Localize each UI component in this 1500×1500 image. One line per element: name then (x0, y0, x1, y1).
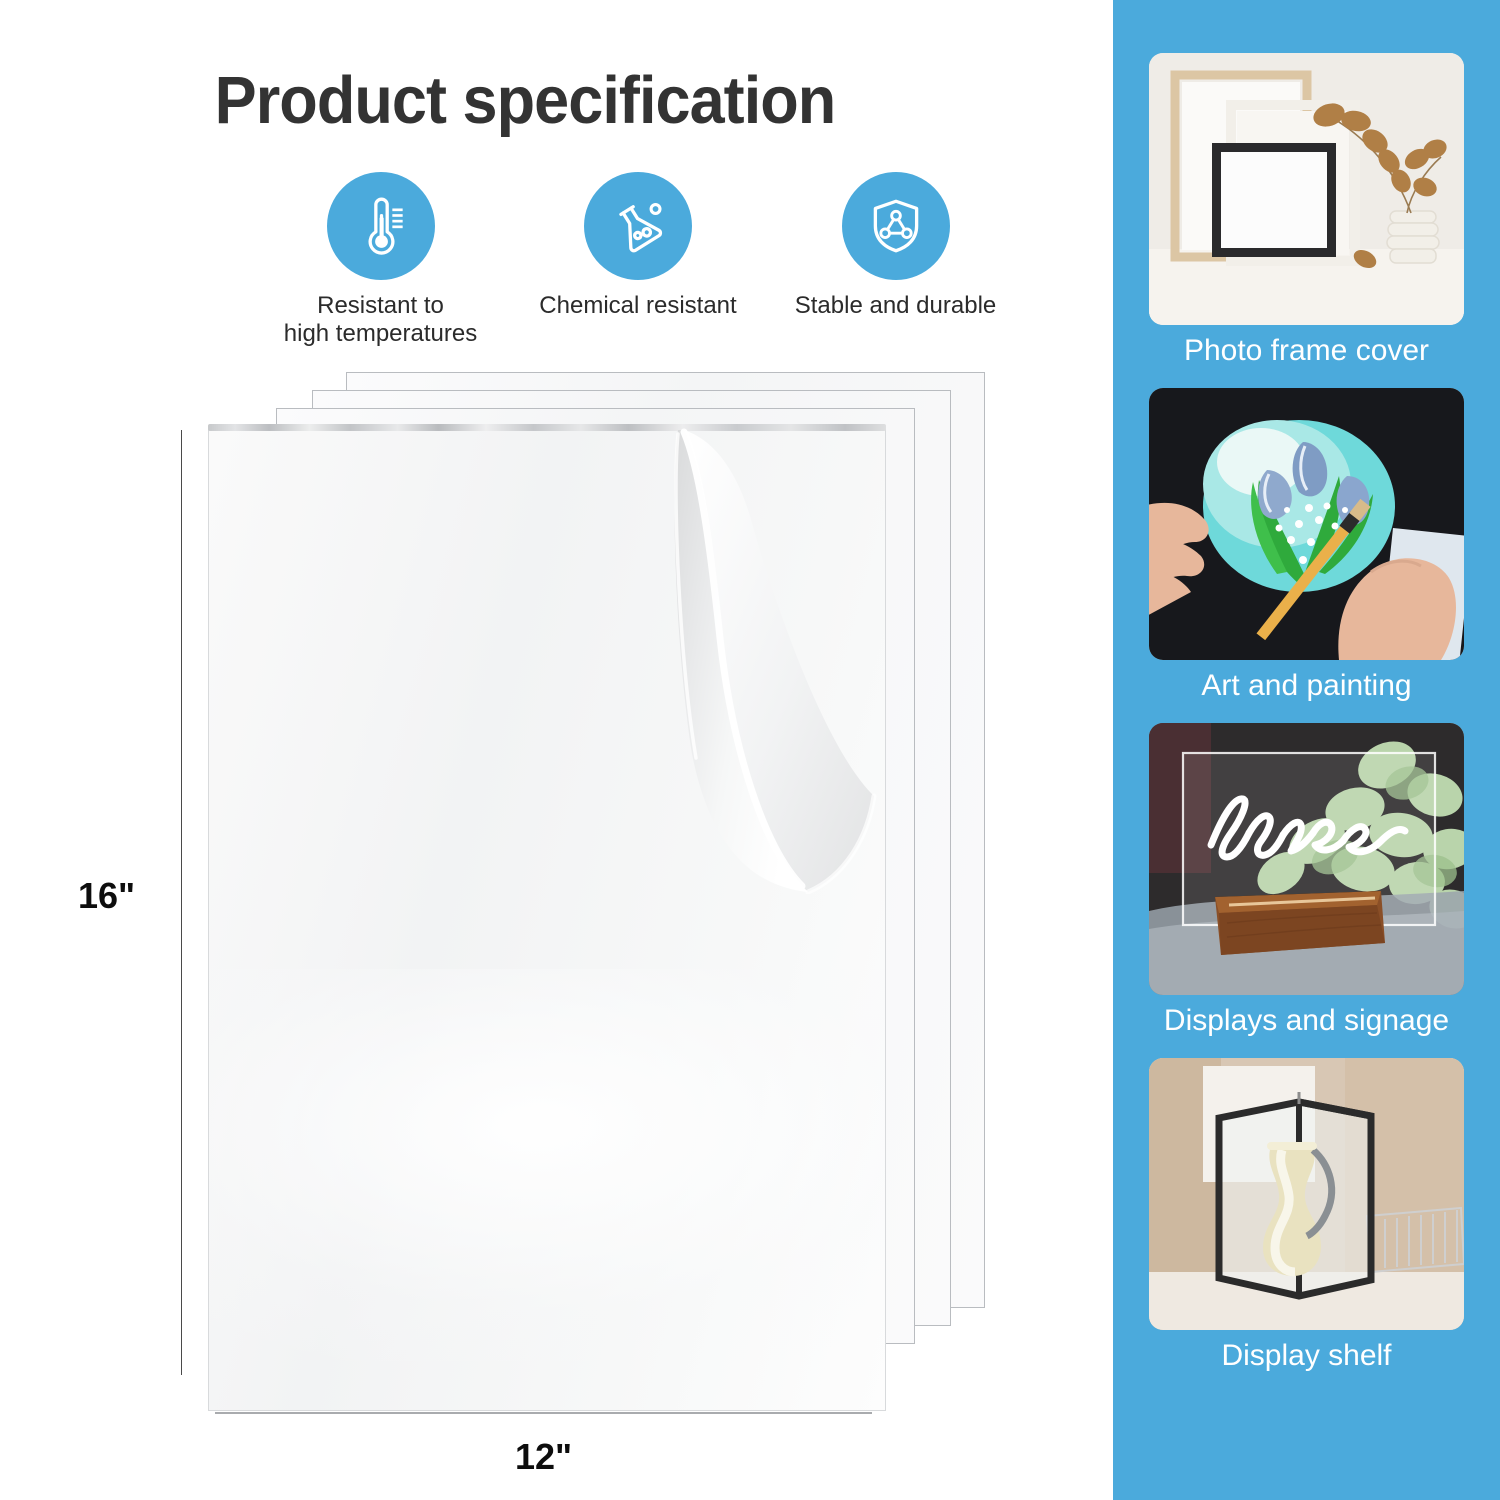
use-case-card-display-shelf[interactable]: Display shelf (1149, 1058, 1464, 1375)
acrylic-table-number-sign-image (1149, 723, 1464, 995)
use-case-card-photo-frame-cover[interactable]: Photo frame cover (1149, 53, 1464, 370)
height-dimension-label: 16" (78, 875, 135, 917)
product-specification-infographic: Product specification (0, 0, 1500, 1500)
use-case-label: Displays and signage (1164, 1004, 1449, 1038)
acrylic-sheet-stack: 16" 12" (0, 0, 1113, 1500)
use-case-sidebar: Photo frame cover (1113, 0, 1500, 1500)
width-dimension-label: 12" (215, 1436, 872, 1478)
hands-painting-blue-tulips-image (1149, 388, 1464, 660)
main-panel: Product specification (0, 0, 1113, 1500)
glass-display-case-with-vase-image (1149, 1058, 1464, 1330)
width-dimension-line (215, 1412, 872, 1414)
use-case-label: Art and painting (1201, 669, 1411, 703)
front-acrylic-sheet (208, 428, 886, 1411)
use-case-label: Display shelf (1221, 1339, 1391, 1373)
height-dimension-line (181, 430, 182, 1375)
photo-frames-with-dried-eucalyptus-image (1149, 53, 1464, 325)
sheet-top-edge (208, 424, 886, 431)
use-case-card-art-and-painting[interactable]: Art and painting (1149, 388, 1464, 705)
use-case-label: Photo frame cover (1184, 334, 1429, 368)
use-case-card-displays-and-signage[interactable]: Displays and signage (1149, 723, 1464, 1040)
